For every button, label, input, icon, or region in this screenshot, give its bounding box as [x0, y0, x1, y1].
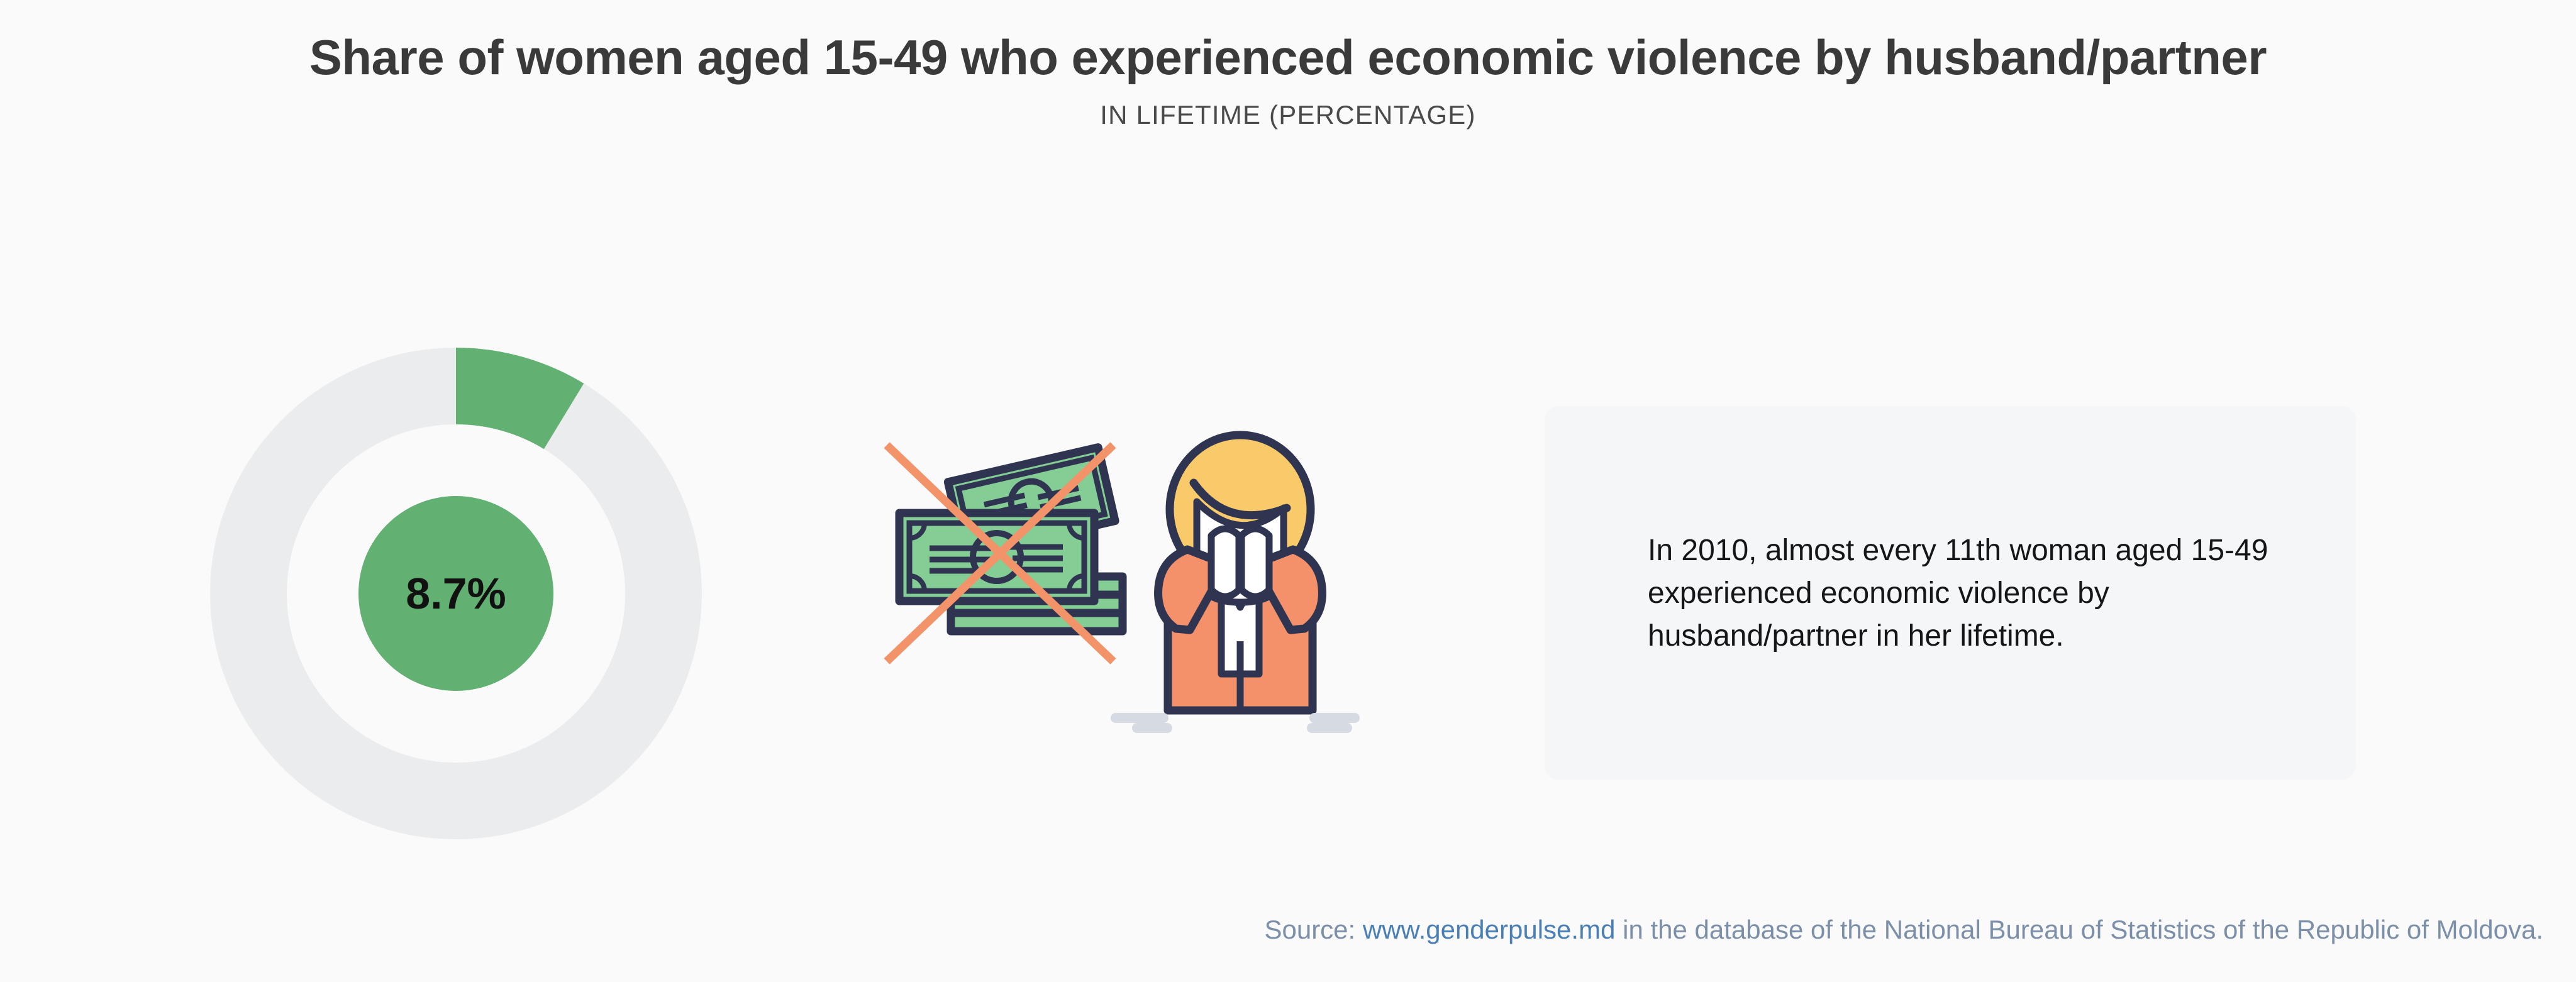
- source-prefix: Source:: [1264, 915, 1362, 944]
- donut-chart-svg: [210, 348, 702, 839]
- source-suffix: in the database of the National Bureau o…: [1615, 915, 2543, 944]
- page-subtitle: IN LIFETIME (PERCENTAGE): [0, 100, 2576, 130]
- donut-inner-disc: [358, 496, 553, 691]
- illustration-svg: [862, 428, 1377, 742]
- illustration-group: [862, 428, 1377, 742]
- source-line: Source: www.genderpulse.md in the databa…: [0, 915, 2576, 945]
- infographic-page: Share of women aged 15-49 who experience…: [0, 0, 2576, 982]
- woman-icon: [1116, 435, 1355, 728]
- header: Share of women aged 15-49 who experience…: [0, 28, 2576, 130]
- callout-box: In 2010, almost every 11th woman aged 15…: [1545, 406, 2356, 780]
- page-title: Share of women aged 15-49 who experience…: [0, 28, 2576, 87]
- callout-text: In 2010, almost every 11th woman aged 15…: [1648, 529, 2283, 658]
- ground-lines-icon: [1116, 718, 1355, 728]
- source-link[interactable]: www.genderpulse.md: [1363, 915, 1616, 944]
- donut-chart: 8.7%: [210, 348, 702, 839]
